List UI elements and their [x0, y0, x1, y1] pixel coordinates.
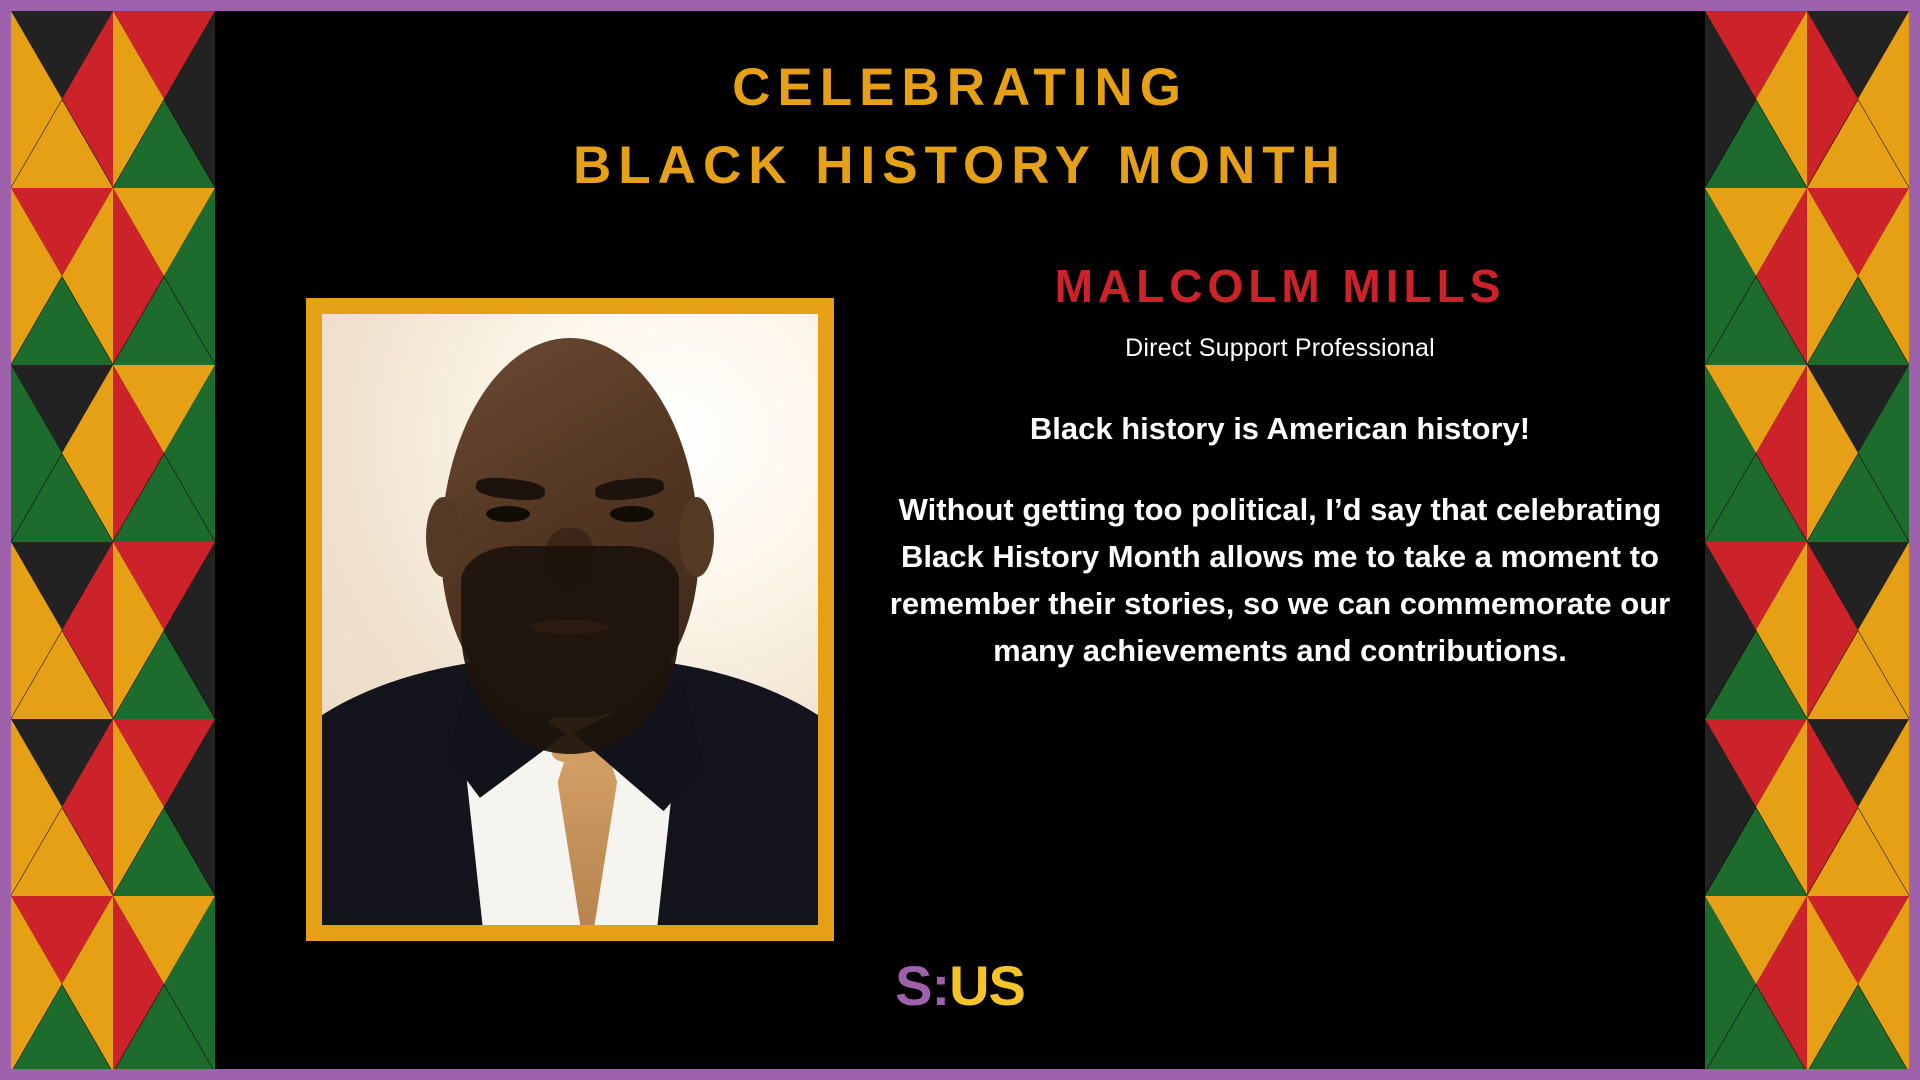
quote-block: Black history is American history! Witho… — [855, 405, 1705, 675]
border-tile-half — [11, 11, 113, 188]
border-tile-half — [1705, 188, 1807, 365]
headline-line-1: CELEBRATING — [215, 49, 1705, 127]
border-tile-half — [113, 719, 215, 896]
photo-mouth — [530, 620, 609, 635]
border-triangle — [11, 719, 62, 895]
border-tile — [11, 896, 215, 1069]
border-tile — [1705, 365, 1909, 542]
border-tile — [1705, 188, 1909, 365]
border-triangle — [113, 542, 164, 718]
border-tile-half — [1705, 365, 1807, 542]
border-triangle — [113, 719, 164, 895]
poster-canvas: CELEBRATING BLACK HISTORY MONTH — [0, 0, 1920, 1080]
border-triangle — [1756, 896, 1807, 1069]
border-triangle — [11, 11, 62, 187]
border-triangle — [1858, 365, 1909, 541]
border-tile-half — [113, 188, 215, 365]
quote-spacer — [861, 452, 1699, 486]
poster-inner-panel: CELEBRATING BLACK HISTORY MONTH — [11, 11, 1909, 1069]
photo-ear-right — [679, 497, 714, 576]
border-tile-half — [113, 11, 215, 188]
border-tile — [11, 719, 215, 896]
profile-text-column: MALCOLM MILLS Direct Support Professiona… — [855, 261, 1705, 674]
border-tile — [11, 365, 215, 542]
border-triangle — [1858, 188, 1909, 364]
border-tile — [11, 11, 215, 188]
border-tile — [1705, 896, 1909, 1069]
border-tile-half — [11, 188, 113, 365]
border-triangle — [1858, 542, 1909, 718]
sus-logo: S:US — [215, 958, 1705, 1014]
border-triangle — [113, 365, 164, 541]
border-tile-half — [1705, 11, 1807, 188]
decorative-border-left — [11, 11, 215, 1069]
person-role: Direct Support Professional — [855, 334, 1705, 363]
border-triangle — [113, 896, 164, 1069]
portrait-frame — [306, 298, 834, 941]
border-tile-half — [1705, 896, 1807, 1069]
page-title: CELEBRATING BLACK HISTORY MONTH — [215, 49, 1705, 205]
border-tile-half — [1807, 896, 1909, 1069]
border-tile-half — [1807, 365, 1909, 542]
photo-ear-left — [426, 497, 461, 576]
poster-content: CELEBRATING BLACK HISTORY MONTH — [215, 11, 1705, 1069]
quote-line-2: Without getting too political, I’d say t… — [861, 486, 1699, 674]
border-triangle — [1858, 896, 1909, 1069]
border-tile-half — [11, 365, 113, 542]
border-tile-half — [1705, 542, 1807, 719]
border-triangle — [11, 896, 62, 1069]
decorative-border-right — [1705, 11, 1909, 1069]
person-name: MALCOLM MILLS — [855, 261, 1705, 312]
border-tile-half — [1705, 719, 1807, 896]
border-triangle — [11, 365, 62, 541]
border-triangle — [11, 188, 62, 364]
border-tile-half — [113, 365, 215, 542]
border-triangle — [1756, 365, 1807, 541]
border-tile-half — [1807, 542, 1909, 719]
logo-letter-s: S — [895, 954, 931, 1017]
border-tile-half — [1807, 188, 1909, 365]
border-tile-half — [11, 719, 113, 896]
quote-line-1: Black history is American history! — [861, 405, 1699, 452]
border-tile — [1705, 11, 1909, 188]
border-tile-half — [113, 896, 215, 1069]
border-triangle — [11, 542, 62, 718]
border-tile — [1705, 719, 1909, 896]
border-tile-half — [1807, 11, 1909, 188]
border-triangle — [1858, 11, 1909, 187]
border-tile-half — [11, 542, 113, 719]
border-tile — [11, 188, 215, 365]
logo-letters-us: US — [949, 954, 1025, 1017]
border-tile-half — [11, 896, 113, 1069]
border-triangle — [1756, 11, 1807, 187]
logo-colon-icon: : — [931, 954, 949, 1017]
portrait-photo — [322, 314, 818, 925]
border-tile-half — [1807, 719, 1909, 896]
border-tile-half — [113, 542, 215, 719]
border-tile — [11, 542, 215, 719]
border-triangle — [1756, 542, 1807, 718]
headline-line-2: BLACK HISTORY MONTH — [215, 127, 1705, 205]
border-tile — [1705, 542, 1909, 719]
border-triangle — [1756, 188, 1807, 364]
border-triangle — [113, 188, 164, 364]
border-triangle — [1756, 719, 1807, 895]
border-triangle — [113, 11, 164, 187]
border-triangle — [1858, 719, 1909, 895]
